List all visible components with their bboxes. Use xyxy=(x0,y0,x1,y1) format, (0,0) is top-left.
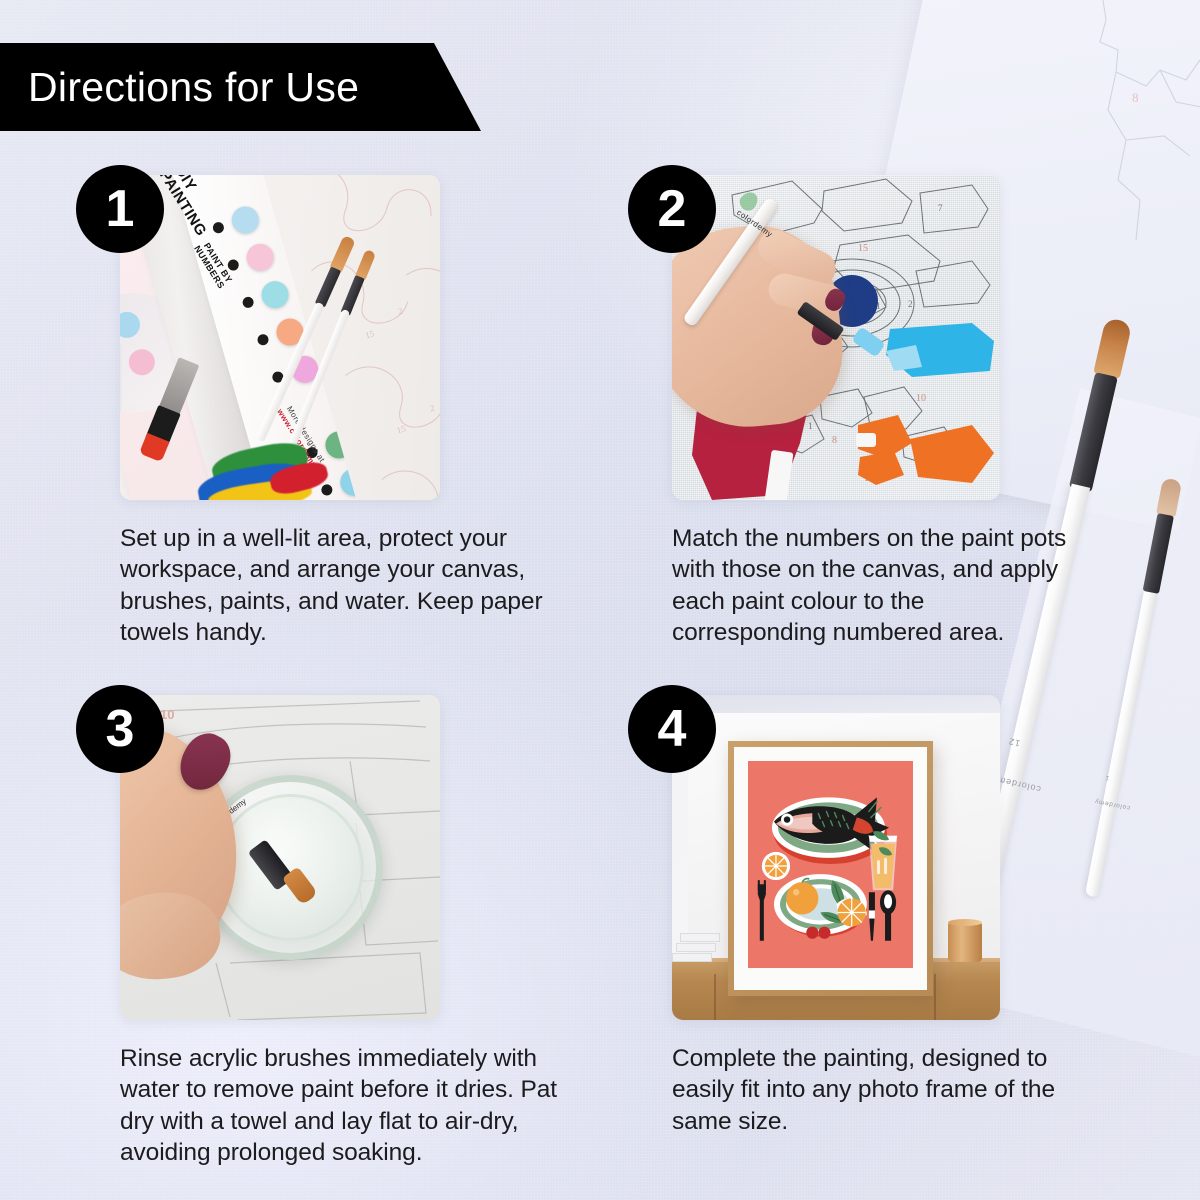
picture-frame xyxy=(728,741,933,996)
kit-window-pot xyxy=(126,346,158,378)
step-1-caption: Set up in a well-lit area, protect your … xyxy=(120,523,560,648)
step-4-photo xyxy=(672,695,1000,1020)
step-4-caption: Complete the painting, designed to easil… xyxy=(672,1043,1072,1137)
step-3-photo: 10 colordemy xyxy=(120,695,440,1020)
step-2-badge: 2 xyxy=(628,165,716,253)
water-jar-inner xyxy=(217,794,364,941)
paint-pot xyxy=(258,278,291,311)
candle-jar-lid xyxy=(948,919,982,926)
step-3: 10 colordemy 3 Rinse acrylic brushes imm… xyxy=(120,695,580,1168)
step-4: 4 Complete the painting, designed to eas… xyxy=(672,695,1092,1137)
step-1: DIY PAINTING PAINT BY NUMBERS More desig… xyxy=(120,175,580,648)
kit-window-pot xyxy=(120,309,143,341)
step-1-badge: 1 xyxy=(76,165,164,253)
step-2: 15 8 10 14 7 1 2 4 1 1 xyxy=(672,175,1092,648)
svg-text:7: 7 xyxy=(938,203,943,213)
page-title: Directions for Use xyxy=(0,64,359,111)
painting-artwork xyxy=(748,761,913,968)
book xyxy=(680,933,720,942)
books-stack xyxy=(672,932,712,962)
sideboard-seam xyxy=(934,974,936,1020)
frame-mat xyxy=(734,747,927,990)
finished-painting xyxy=(748,761,913,968)
paint-pot-number xyxy=(256,333,270,347)
paint-pot-number xyxy=(320,483,334,497)
svg-text:1: 1 xyxy=(808,421,813,431)
svg-text:15: 15 xyxy=(364,328,376,340)
svg-text:15: 15 xyxy=(858,243,868,254)
svg-text:2: 2 xyxy=(429,403,436,414)
header-banner: Directions for Use xyxy=(0,43,500,131)
svg-text:10: 10 xyxy=(916,393,926,404)
step-1-photo: DIY PAINTING PAINT BY NUMBERS More desig… xyxy=(120,175,440,500)
book xyxy=(672,953,712,962)
candle-jar xyxy=(948,922,982,962)
step-3-caption: Rinse acrylic brushes immediately with w… xyxy=(120,1043,560,1168)
sideboard-seam xyxy=(714,974,716,1020)
paint-pot-number xyxy=(212,221,226,235)
step-2-caption: Match the numbers on the paint pots with… xyxy=(672,523,1072,648)
paint-pot xyxy=(243,241,276,274)
paint-pot xyxy=(229,203,262,236)
canvas-number-label: 8 xyxy=(1132,90,1139,105)
book xyxy=(676,943,716,952)
kit-window-brush xyxy=(120,344,122,414)
step-3-badge: 3 xyxy=(76,685,164,773)
step-4-badge: 4 xyxy=(628,685,716,773)
step-2-photo: 15 8 10 14 7 1 2 4 1 1 xyxy=(672,175,1000,500)
paint-pot-number xyxy=(241,296,255,310)
svg-text:2: 2 xyxy=(908,299,913,309)
svg-text:2: 2 xyxy=(397,306,404,317)
svg-text:8: 8 xyxy=(832,435,837,446)
